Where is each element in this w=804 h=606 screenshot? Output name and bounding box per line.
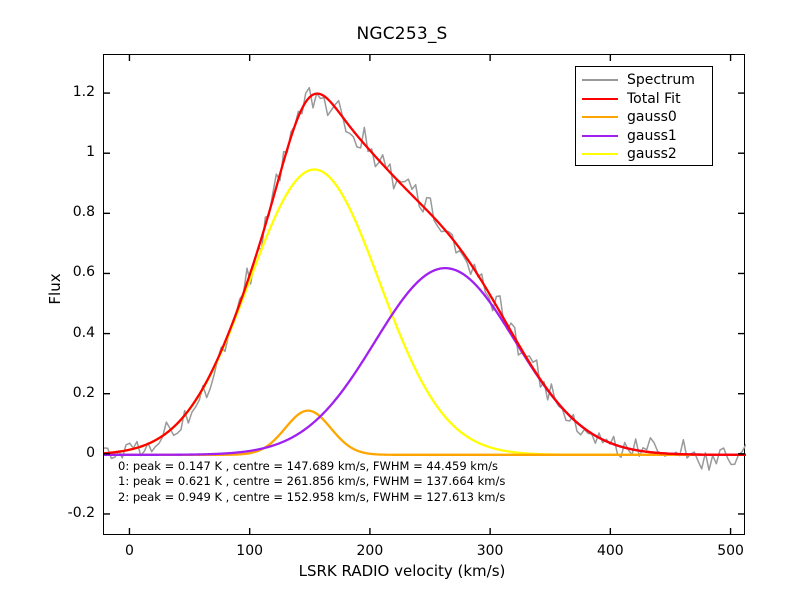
x-tick-label: 400 bbox=[580, 543, 640, 559]
x-tick-label: 500 bbox=[701, 543, 761, 559]
legend-label-total-fit: Total Fit bbox=[627, 92, 681, 106]
x-tick-label: 300 bbox=[460, 543, 520, 559]
legend-swatch-gauss0 bbox=[582, 116, 618, 118]
chart-title: NGC253_S bbox=[0, 24, 804, 44]
gauss1-curve bbox=[104, 268, 746, 455]
legend-item-spectrum: Spectrum bbox=[582, 71, 706, 90]
annot-line-1: 1: peak = 0.621 K , centre = 261.856 km/… bbox=[118, 474, 505, 488]
legend-item-gauss2: gauss2 bbox=[582, 145, 706, 164]
legend-item-total-fit: Total Fit bbox=[582, 90, 706, 109]
x-tick-label: 0 bbox=[99, 543, 159, 559]
legend-label-gauss2: gauss2 bbox=[627, 147, 677, 161]
legend-label-gauss0: gauss0 bbox=[627, 110, 677, 124]
legend: Spectrum Total Fit gauss0 gauss1 gauss2 bbox=[575, 66, 713, 166]
y-tick-label: 0.8 bbox=[35, 204, 95, 220]
annot-line-2: 2: peak = 0.949 K , centre = 152.958 km/… bbox=[118, 490, 505, 504]
y-tick-label: 0 bbox=[35, 445, 95, 461]
legend-swatch-total-fit bbox=[582, 98, 618, 100]
legend-label-spectrum: Spectrum bbox=[627, 73, 695, 87]
annot-line-0: 0: peak = 0.147 K , centre = 147.689 km/… bbox=[118, 459, 498, 473]
legend-swatch-gauss2 bbox=[582, 153, 618, 155]
legend-swatch-spectrum bbox=[582, 79, 618, 81]
y-tick-label: 1.2 bbox=[35, 84, 95, 100]
legend-item-gauss1: gauss1 bbox=[582, 127, 706, 146]
fit-parameters-annotation: 0: peak = 0.147 K , centre = 147.689 km/… bbox=[118, 459, 505, 505]
legend-label-gauss1: gauss1 bbox=[627, 129, 677, 143]
y-tick-label: 1 bbox=[35, 144, 95, 160]
x-tick-label: 200 bbox=[340, 543, 400, 559]
gauss0-curve bbox=[104, 411, 746, 455]
legend-item-gauss0: gauss0 bbox=[582, 108, 706, 127]
x-tick-label: 100 bbox=[220, 543, 280, 559]
gauss2-curve bbox=[104, 170, 746, 455]
figure-canvas: NGC253_S Flux -0.200.20.40.60.811.2 0100… bbox=[0, 0, 804, 606]
y-tick-label: 0.4 bbox=[35, 325, 95, 341]
y-tick-label: 0.2 bbox=[35, 385, 95, 401]
x-axis-label: LSRK RADIO velocity (km/s) bbox=[0, 562, 804, 580]
y-tick-label: -0.2 bbox=[35, 505, 95, 521]
y-tick-label: 0.6 bbox=[35, 264, 95, 280]
legend-swatch-gauss1 bbox=[582, 135, 618, 137]
